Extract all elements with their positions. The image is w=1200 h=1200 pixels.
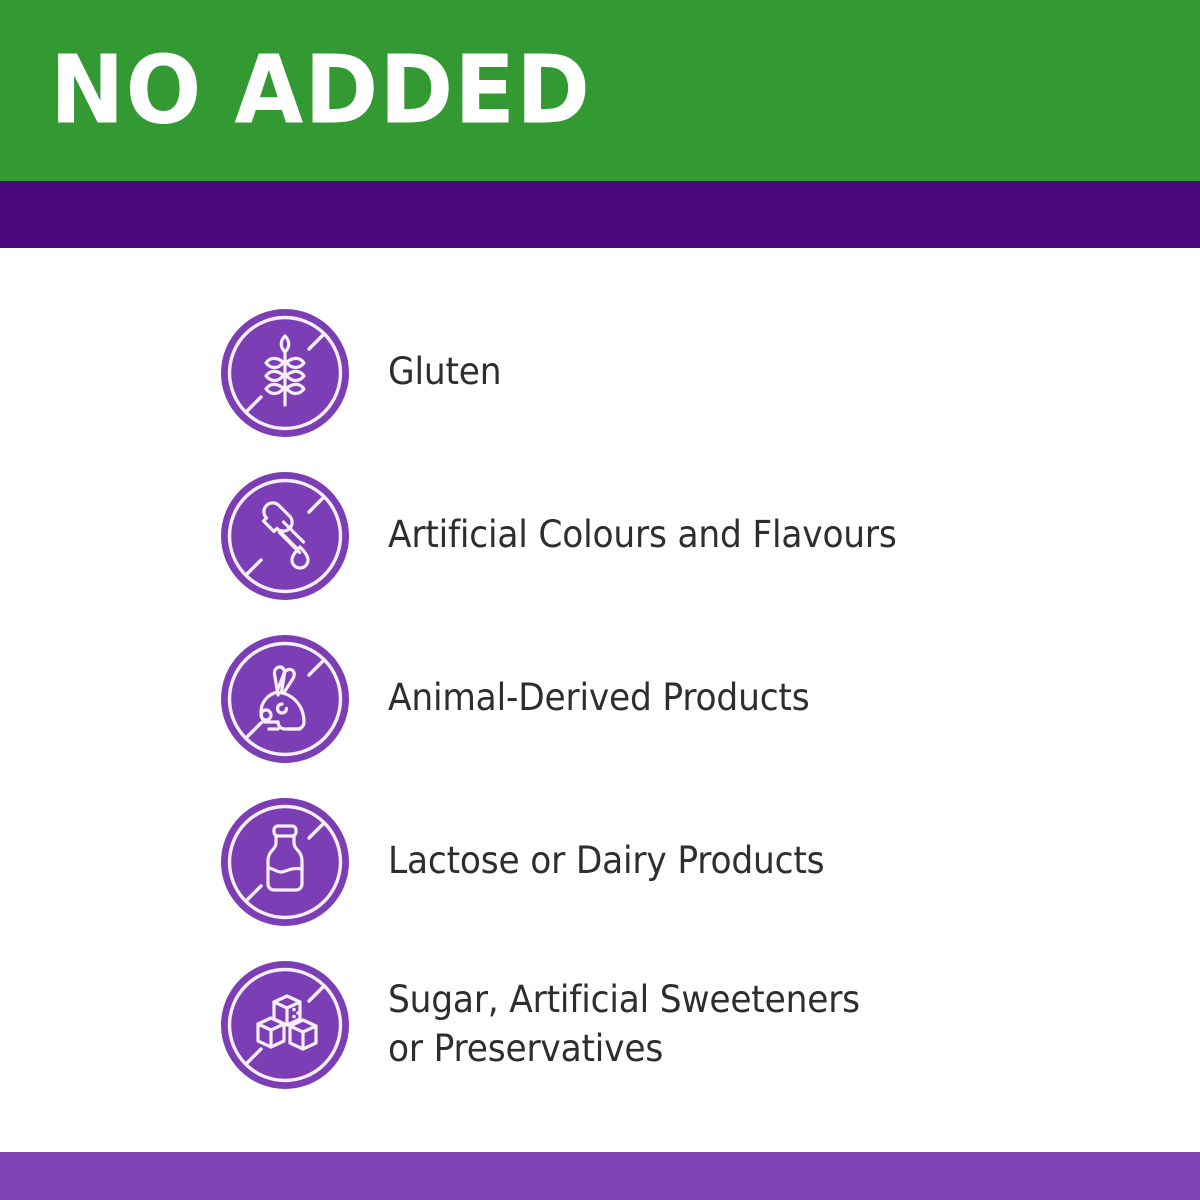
header-band: NO ADDED — [0, 0, 1200, 181]
footer-band — [0, 1152, 1200, 1200]
no-dairy-milk-bottle-icon — [220, 797, 350, 927]
list-item: Lactose or Dairy Products — [0, 780, 1200, 943]
list-item: Artificial Colours and Flavours — [0, 454, 1200, 617]
divider-band — [0, 181, 1200, 248]
page-title: NO ADDED — [50, 48, 591, 133]
claims-list: Gluten — [0, 291, 1200, 1106]
claims-content: Gluten — [0, 248, 1200, 1152]
claim-label: Gluten — [388, 348, 501, 397]
list-item: Gluten — [0, 291, 1200, 454]
no-artificial-colours-dropper-icon — [220, 471, 350, 601]
list-item: Sugar, Artificial Sweeteners or Preserva… — [0, 943, 1200, 1106]
claim-label: Artificial Colours and Flavours — [388, 511, 897, 560]
list-item: Animal-Derived Products — [0, 617, 1200, 780]
claim-label: Sugar, Artificial Sweeteners or Preserva… — [388, 976, 860, 1074]
no-sugar-cubes-icon — [220, 960, 350, 1090]
claim-label: Animal-Derived Products — [388, 674, 809, 723]
claim-label: Lactose or Dairy Products — [388, 837, 824, 886]
no-added-claims-poster: NO ADDED — [0, 0, 1200, 1200]
no-gluten-wheat-icon — [220, 308, 350, 438]
no-animal-derived-rabbit-icon — [220, 634, 350, 764]
